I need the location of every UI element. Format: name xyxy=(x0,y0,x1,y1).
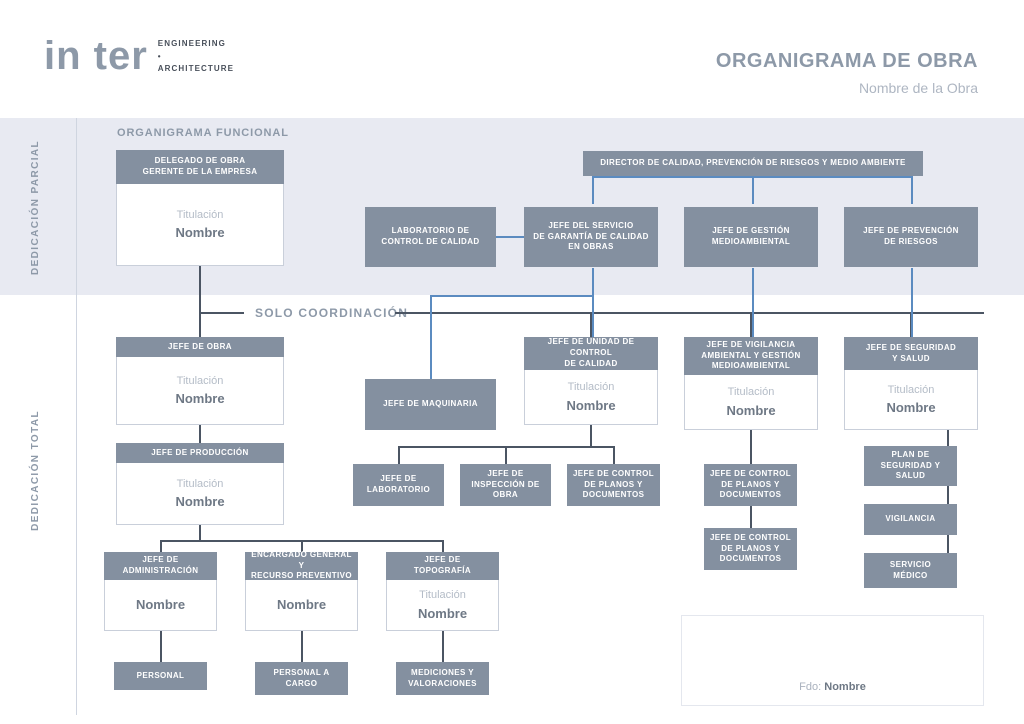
node-caption: JEFE DE ADMINISTRACIÓN xyxy=(104,552,217,580)
node-personal[interactable]: PERSONAL xyxy=(114,662,207,690)
node-caption: JEFE DE CONTROL DE PLANOS Y DOCUMENTOS xyxy=(704,464,797,506)
node-caption: PERSONAL xyxy=(114,662,207,690)
page-title: ORGANIGRAMA DE OBRA xyxy=(716,50,978,73)
node-caption: JEFE DE MAQUINARIA xyxy=(365,379,496,430)
connector-planos2-planos3 xyxy=(750,506,752,528)
node-nombre: Nombre xyxy=(277,595,326,615)
node-body: Nombre xyxy=(245,580,358,631)
connector-to-administracion xyxy=(160,540,162,552)
connector-blue-prevencion-down xyxy=(911,268,913,338)
node-body: Nombre xyxy=(104,580,217,631)
node-jefe-control-planos-3[interactable]: JEFE DE CONTROL DE PLANOS Y DOCUMENTOS xyxy=(704,528,797,570)
logo-wordmark: in ter xyxy=(44,36,148,76)
connector-blue-to-maquinaria-bar xyxy=(430,295,592,297)
node-caption: JEFE DE GESTIÓN MEDIOAMBIENTAL xyxy=(684,207,818,267)
node-caption: JEFE DE PREVENCIÓN DE RIESGOS xyxy=(844,207,978,267)
node-nombre: Nombre xyxy=(418,604,467,624)
node-jefe-obra[interactable]: JEFE DE OBRA Titulación Nombre xyxy=(116,337,284,425)
node-titulacion: Titulación xyxy=(568,379,615,396)
node-laboratorio-control-calidad[interactable]: LABORATORIO DE CONTROL DE CALIDAD xyxy=(365,207,496,267)
node-caption: JEFE DE UNIDAD DE CONTROL DE CALIDAD xyxy=(524,337,658,370)
page-subtitle: Nombre de la Obra xyxy=(859,80,978,96)
node-titulacion: Titulación xyxy=(888,382,935,399)
connector-to-laboratorio xyxy=(398,446,400,464)
node-nombre: Nombre xyxy=(175,492,224,512)
node-caption: PERSONAL A CARGO xyxy=(255,662,348,695)
connector-blue-director-gestion xyxy=(752,176,754,204)
node-caption: JEFE DE CONTROL DE PLANOS Y DOCUMENTOS xyxy=(704,528,797,570)
node-caption: JEFE DE TOPOGRAFÍA xyxy=(386,552,499,580)
logo-tagline-dot: • xyxy=(158,51,234,63)
node-jefe-garantia-calidad[interactable]: JEFE DEL SERVICIO DE GARANTÍA DE CALIDAD… xyxy=(524,207,658,267)
label-dedicacion-total: DEDICACIÓN TOTAL xyxy=(30,410,41,531)
connector-unidad-down xyxy=(590,425,592,446)
label-dedicacion-parcial: DEDICACIÓN PARCIAL xyxy=(30,140,41,275)
signature-prefix: Fdo: xyxy=(799,681,821,693)
node-body: Titulación Nombre xyxy=(116,357,284,425)
logo-tagline-architecture: ARCHITECTURE xyxy=(158,63,234,75)
connector-administracion-personal xyxy=(160,631,162,663)
node-servicio-medico[interactable]: SERVICIO MÉDICO xyxy=(864,553,957,588)
node-jefe-inspeccion-obra[interactable]: JEFE DE INSPECCIÓN DE OBRA xyxy=(460,464,551,506)
signature-text: Fdo: Nombre xyxy=(799,681,866,693)
node-body: Titulación Nombre xyxy=(116,184,284,266)
node-jefe-vigilancia-ambiental[interactable]: JEFE DE VIGILANCIA AMBIENTAL Y GESTIÓN M… xyxy=(684,337,818,430)
node-caption: PLAN DE SEGURIDAD Y SALUD xyxy=(864,446,957,486)
node-caption: DIRECTOR DE CALIDAD, PREVENCIÓN DE RIESG… xyxy=(583,151,923,176)
node-body: Titulación Nombre xyxy=(524,370,658,425)
node-body: Titulación Nombre xyxy=(844,370,978,430)
node-nombre: Nombre xyxy=(175,223,224,243)
node-caption: JEFE DE OBRA xyxy=(116,337,284,357)
connector-blue-laboratorio-garantia xyxy=(495,236,525,238)
organigrama-page: in ter ENGINEERING • ARCHITECTURE ORGANI… xyxy=(0,0,1024,724)
node-titulacion: Titulación xyxy=(177,207,224,224)
node-mediciones-valoraciones[interactable]: MEDICIONES Y VALORACIONES xyxy=(396,662,489,695)
node-jefe-unidad-control-calidad[interactable]: JEFE DE UNIDAD DE CONTROL DE CALIDAD Tit… xyxy=(524,337,658,425)
node-body: Titulación Nombre xyxy=(684,375,818,430)
logo-tagline: ENGINEERING • ARCHITECTURE xyxy=(158,38,234,75)
node-jefe-control-planos-2[interactable]: JEFE DE CONTROL DE PLANOS Y DOCUMENTOS xyxy=(704,464,797,506)
node-titulacion: Titulación xyxy=(728,384,775,401)
connector-coordination-right xyxy=(395,312,984,314)
connector-to-inspeccion xyxy=(505,446,507,464)
node-caption: JEFE DE SEGURIDAD Y SALUD xyxy=(844,337,978,370)
connector-blue-maquinaria-down xyxy=(430,295,432,380)
connector-to-control-planos-1 xyxy=(613,446,615,464)
node-jefe-seguridad-salud[interactable]: JEFE DE SEGURIDAD Y SALUD Titulación Nom… xyxy=(844,337,978,430)
connector-encargado-personalcargo xyxy=(301,631,303,663)
connector-delegado-jefeobra xyxy=(199,265,201,337)
band-divider-top xyxy=(76,118,77,295)
node-jefe-gestion-medioambiental[interactable]: JEFE DE GESTIÓN MEDIOAMBIENTAL xyxy=(684,207,818,267)
company-logo: in ter ENGINEERING • ARCHITECTURE xyxy=(44,36,234,76)
node-jefe-topografia[interactable]: JEFE DE TOPOGRAFÍA Titulación Nombre xyxy=(386,552,499,631)
node-caption: DELEGADO DE OBRA GERENTE DE LA EMPRESA xyxy=(116,150,284,184)
signature-name: Nombre xyxy=(824,681,866,693)
node-jefe-maquinaria[interactable]: JEFE DE MAQUINARIA xyxy=(365,379,496,430)
node-nombre: Nombre xyxy=(136,595,185,615)
node-caption: VIGILANCIA xyxy=(864,504,957,535)
node-encargado-general[interactable]: ENCARGADO GENERAL Y RECURSO PREVENTIVO N… xyxy=(245,552,358,631)
node-titulacion: Titulación xyxy=(419,587,466,604)
node-jefe-control-planos-1[interactable]: JEFE DE CONTROL DE PLANOS Y DOCUMENTOS xyxy=(567,464,660,506)
label-organigrama-funcional: ORGANIGRAMA FUNCIONAL xyxy=(117,127,289,139)
node-caption: JEFE DE LABORATORIO xyxy=(353,464,444,506)
connector-blue-director-garantia xyxy=(592,176,594,204)
node-nombre: Nombre xyxy=(886,398,935,418)
node-caption: LABORATORIO DE CONTROL DE CALIDAD xyxy=(365,207,496,267)
node-caption: SERVICIO MÉDICO xyxy=(864,553,957,588)
node-jefe-prevencion-riesgos[interactable]: JEFE DE PREVENCIÓN DE RIESGOS xyxy=(844,207,978,267)
connector-blue-gestion-down xyxy=(752,268,754,338)
node-plan-seguridad-salud[interactable]: PLAN DE SEGURIDAD Y SALUD xyxy=(864,446,957,486)
node-personal-a-cargo[interactable]: PERSONAL A CARGO xyxy=(255,662,348,695)
logo-tagline-engineering: ENGINEERING xyxy=(158,38,234,50)
node-jefe-laboratorio[interactable]: JEFE DE LABORATORIO xyxy=(353,464,444,506)
node-vigilancia[interactable]: VIGILANCIA xyxy=(864,504,957,535)
node-nombre: Nombre xyxy=(566,396,615,416)
node-nombre: Nombre xyxy=(175,389,224,409)
node-director-calidad[interactable]: DIRECTOR DE CALIDAD, PREVENCIÓN DE RIESG… xyxy=(583,151,923,176)
node-delegado-obra[interactable]: DELEGADO DE OBRA GERENTE DE LA EMPRESA T… xyxy=(116,150,284,266)
node-caption: MEDICIONES Y VALORACIONES xyxy=(396,662,489,695)
node-caption: JEFE DE VIGILANCIA AMBIENTAL Y GESTIÓN M… xyxy=(684,337,818,375)
node-titulacion: Titulación xyxy=(177,476,224,493)
node-titulacion: Titulación xyxy=(177,373,224,390)
node-jefe-administracion[interactable]: JEFE DE ADMINISTRACIÓN Nombre xyxy=(104,552,217,631)
node-caption: JEFE DE PRODUCCIÓN xyxy=(116,443,284,463)
node-jefe-produccion[interactable]: JEFE DE PRODUCCIÓN Titulación Nombre xyxy=(116,443,284,525)
connector-coordination-left xyxy=(199,312,244,314)
connector-topografia-mediciones xyxy=(442,631,444,663)
connector-to-topografia xyxy=(442,540,444,552)
band-divider-bottom xyxy=(76,295,77,715)
node-caption: JEFE DE INSPECCIÓN DE OBRA xyxy=(460,464,551,506)
connector-jefeobra-produccion xyxy=(199,425,201,443)
node-caption: JEFE DE CONTROL DE PLANOS Y DOCUMENTOS xyxy=(567,464,660,506)
node-body: Titulación Nombre xyxy=(116,463,284,525)
signature-box[interactable]: Fdo: Nombre xyxy=(681,615,984,706)
node-nombre: Nombre xyxy=(726,401,775,421)
label-solo-coordinacion: SOLO COORDINACIÓN xyxy=(255,306,408,320)
connector-produccion-down xyxy=(199,525,201,541)
connector-blue-director-bar xyxy=(592,176,912,178)
connector-vigilancia-planos xyxy=(750,430,752,464)
node-caption: ENCARGADO GENERAL Y RECURSO PREVENTIVO xyxy=(245,552,358,580)
node-caption: JEFE DEL SERVICIO DE GARANTÍA DE CALIDAD… xyxy=(524,207,658,267)
connector-blue-director-prevencion xyxy=(911,176,913,204)
node-body: Titulación Nombre xyxy=(386,580,499,631)
